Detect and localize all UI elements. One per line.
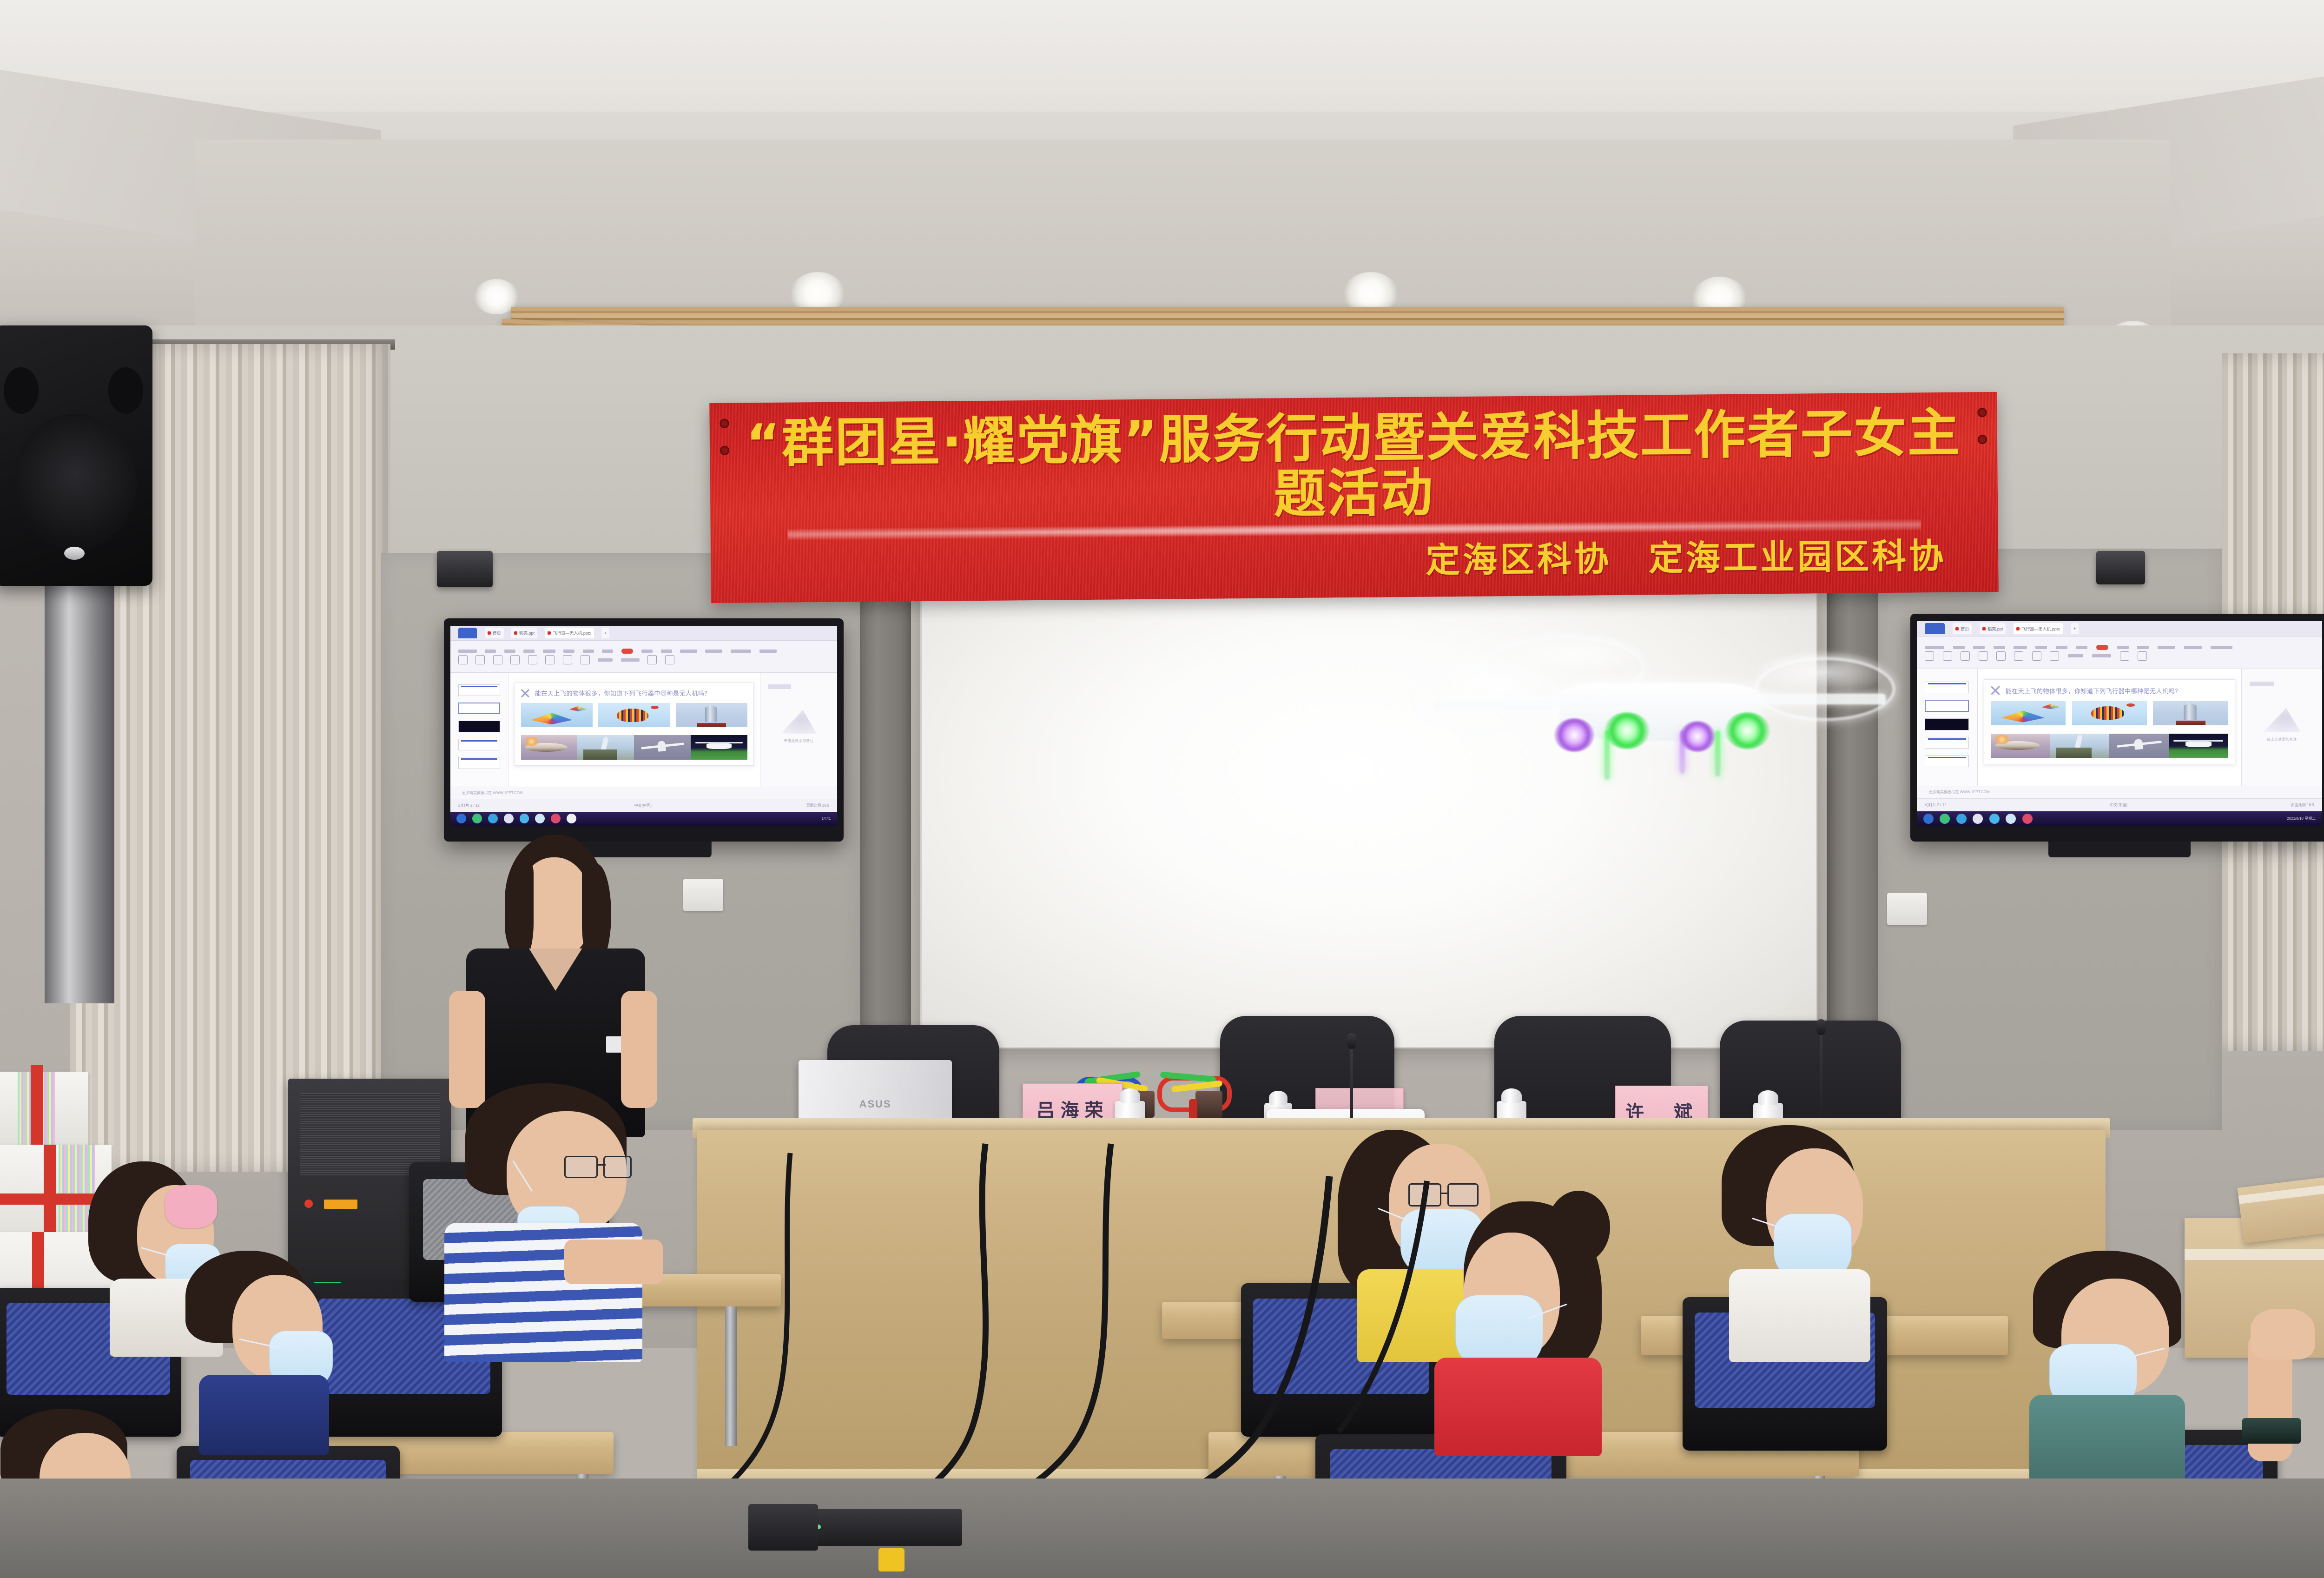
slide-thumbnail[interactable]: [1925, 718, 1969, 730]
ppt-ribbon[interactable]: [1917, 637, 2322, 669]
taskbar-clock: 14:41: [822, 816, 831, 821]
student-red-shirt: [1434, 1358, 1602, 1457]
ppt-slide-thumbnails[interactable]: [1917, 669, 1978, 786]
slide-image-quadcopter-drone: [2169, 734, 2228, 758]
slide-thumbnail[interactable]: [458, 739, 501, 750]
media-icon[interactable]: [535, 814, 545, 823]
desk-leg: [725, 1306, 737, 1446]
flying-quadcopter-drone: [1404, 632, 1906, 786]
ppt-app-logo[interactable]: [458, 628, 477, 638]
power-adapter: [748, 1504, 818, 1551]
start-icon[interactable]: [456, 814, 466, 823]
slide-image-row-top: [1991, 701, 2228, 725]
ppt-body: 能在天上飞的物体很多，你知道下列飞行器中哪种是无人机吗？: [1917, 669, 2322, 786]
gift-box-stack: [0, 1072, 88, 1146]
ppt-ribbon-tool-row[interactable]: [458, 655, 830, 664]
status-language: 中文(中国): [634, 803, 652, 808]
banner-sub-text: 定海区科协 定海工业园区科协: [739, 528, 1970, 589]
pane-header: [2250, 682, 2274, 686]
slide-image-airship-blimp: [521, 735, 578, 759]
wristwatch: [2242, 1418, 2301, 1444]
pane-caption: 单击此处添加备注: [768, 738, 829, 743]
ppt-footer-note: 更多精美模板尽在 WWW.1PPT.COM: [1929, 789, 1990, 795]
drone-icon: [521, 689, 530, 697]
slide-thumbnail-selected[interactable]: [1925, 700, 1969, 712]
explorer-icon[interactable]: [1973, 814, 1983, 824]
ppt-slide: 能在天上飞的物体很多，你知道下列飞行器中哪种是无人机吗？: [514, 683, 754, 766]
browser-icon[interactable]: [472, 814, 482, 823]
hair-bow: [165, 1185, 217, 1228]
drone-led-purple: [1554, 718, 1594, 752]
toy-drone-body: [1195, 1091, 1222, 1119]
pane-caption: 单击此处添加备注: [2250, 737, 2314, 742]
student-white-shirt: [1729, 1269, 1870, 1362]
gift-ribbon: [44, 1145, 56, 1233]
laptop-brand-label: ASUS: [859, 1098, 891, 1110]
windows-taskbar[interactable]: 2021/8/10 星期二: [1917, 811, 2322, 826]
pane-header: [768, 684, 791, 689]
ppt-tab-label: 稻壳.ppt: [1987, 626, 2003, 632]
ppt-tab-active[interactable]: 飞行器—无人机.pptx: [2014, 623, 2063, 634]
banner-main-text: “群团星·耀党旗”服务行动暨关爱科技工作者子女主题活动: [738, 405, 1969, 527]
ppt-notes-bar[interactable]: 更多精美模板尽在 WWW.1PPT.COM: [1917, 786, 2322, 798]
slide-image-missile: [577, 735, 634, 759]
rack-led-amber: [324, 1200, 357, 1209]
ie-icon[interactable]: [488, 814, 498, 823]
ppt-new-tab-label: +: [2073, 626, 2076, 631]
heart-icon[interactable]: [2022, 814, 2033, 824]
ppt-app-logo[interactable]: [1925, 623, 1945, 634]
ppt-tab-label: 首页: [1961, 626, 1969, 632]
status-language: 中文(中国): [2110, 802, 2127, 808]
note-icon[interactable]: [567, 814, 576, 823]
slide-title-row: 能在天上飞的物体很多，你知道下列飞行器中哪种是无人机吗？: [1991, 686, 2228, 695]
slide-thumbnail[interactable]: [458, 757, 501, 769]
ppt-footer-note: 更多精美模板尽在 WWW.1PPT.COM: [462, 790, 523, 796]
ppt-tab-label: 飞行器—无人机.pptx: [553, 630, 591, 636]
presenter-hair-left: [505, 864, 534, 961]
ppt-tabbar[interactable]: 首页 稻壳.ppt 飞行器—无人机.pptx +: [450, 626, 837, 641]
slide-image-row-bottom: [1991, 734, 2228, 758]
student-shirt: [199, 1375, 330, 1455]
ppt-side-pane[interactable]: 单击此处添加备注: [2241, 669, 2322, 786]
hand: [2251, 1309, 2315, 1359]
slide-image-row-top: [521, 703, 747, 727]
ceiling-camera-right: [2096, 551, 2145, 584]
drone-landing-leg: [1715, 730, 1720, 776]
student-raised-hand: [2217, 1297, 2324, 1492]
student-boy-glasses-striped: [418, 1083, 679, 1362]
slide-image-quadcopter-drone: [691, 735, 747, 759]
slide-thumbnail[interactable]: [1925, 755, 1969, 767]
windows-taskbar[interactable]: 14:41: [450, 812, 837, 826]
wall-pilaster-left: [855, 581, 911, 1074]
ppt-ribbon[interactable]: [450, 641, 837, 673]
ppt-ribbon-menu-row[interactable]: [1925, 645, 2314, 650]
ie-icon[interactable]: [1956, 814, 1967, 824]
ppt-tab[interactable]: 首页: [1953, 623, 1972, 634]
eyeglasses-bridge: [598, 1164, 606, 1166]
tv-screen-left: 首页 稻壳.ppt 飞行器—无人机.pptx +: [450, 626, 837, 826]
heart-icon[interactable]: [551, 814, 561, 823]
powerpoint-window-left[interactable]: 首页 稻壳.ppt 飞行器—无人机.pptx +: [450, 626, 837, 826]
slide-thumbnail[interactable]: [458, 721, 501, 732]
yellow-cable-tag: [878, 1548, 905, 1571]
ceiling-soffit: [0, 0, 2324, 112]
slide-image-military-uav: [634, 735, 691, 759]
start-icon[interactable]: [1923, 814, 1934, 824]
drone-icon: [1991, 686, 2000, 695]
speaker-stand: [45, 585, 114, 1003]
ppt-tab[interactable]: 首页: [485, 628, 504, 638]
speaker-cone: [13, 414, 137, 549]
slide-thumbnail[interactable]: [1925, 682, 1969, 694]
ppt-ribbon-menu-row[interactable]: [458, 649, 830, 654]
status-slide-number: 幻灯片 2 / 12: [458, 803, 480, 808]
student-boy-front-left: [172, 1251, 339, 1451]
wall-outlet-right[interactable]: [1887, 893, 1927, 925]
slide-title-row: 能在天上飞的物体很多，你知道下列飞行器中哪种是无人机吗？: [521, 689, 747, 697]
slide-image-kite: [521, 703, 593, 727]
ppt-body: 能在天上飞的物体很多，你知道下列飞行器中哪种是无人机吗？: [450, 673, 837, 787]
ppt-new-tab-button[interactable]: +: [2071, 623, 2079, 634]
student-boy-teal-right: [2017, 1251, 2217, 1483]
status-ratio: 页面比例 16:9: [806, 803, 830, 808]
slide-image-hot-air-balloon: [598, 703, 670, 727]
ppt-slide-stage: 能在天上飞的物体很多，你知道下列飞行器中哪种是无人机吗？: [1978, 669, 2241, 786]
student-girl-red-bun: [1418, 1186, 1627, 1446]
pane-preview: [2263, 708, 2300, 732]
drone-led-green: [1604, 712, 1650, 749]
ppt-slide: 能在天上飞的物体很多，你知道下列飞行器中哪种是无人机吗？: [1984, 679, 2235, 764]
chat-icon[interactable]: [1989, 814, 2000, 824]
pane-preview: [781, 710, 817, 734]
chat-icon[interactable]: [520, 814, 529, 823]
slide-image-military-uav: [2109, 734, 2169, 758]
pa-speaker: [0, 325, 152, 586]
taskbar-date: 2021/8/10 星期二: [2287, 816, 2316, 821]
ppt-tab[interactable]: 稻壳.ppt: [1980, 623, 2006, 634]
slide-image-rocket: [2153, 701, 2228, 725]
microphone-head[interactable]: [1347, 1033, 1356, 1049]
student-arm: [564, 1240, 663, 1284]
tv-screen-right: 首页 稻壳.ppt 飞行器—无人机.pptx +: [1917, 621, 2322, 826]
tv-display-left[interactable]: 首页 稻壳.ppt 飞行器—无人机.pptx +: [444, 618, 844, 842]
browser-icon[interactable]: [1940, 814, 1950, 824]
floor-carpet: [0, 1479, 2324, 1578]
ppt-slide-thumbnails[interactable]: [450, 673, 508, 787]
slide-image-kite: [1991, 701, 2066, 725]
student-teal-shirt: [2029, 1395, 2185, 1488]
slide-thumbnail[interactable]: [458, 684, 501, 696]
ppt-status-bar[interactable]: 幻灯片 2 / 12 中文(中国) 页面比例 16:9: [450, 799, 837, 812]
student-girl-white-right: [1710, 1125, 1896, 1358]
drone-propeller-blur: [1755, 651, 1886, 694]
ppt-tab-active[interactable]: 飞行器—无人机.pptx: [545, 628, 594, 638]
ppt-slide-stage: 能在天上飞的物体很多，你知道下列飞行器中哪种是无人机吗？: [508, 673, 760, 787]
ppt-ribbon-tool-row[interactable]: [1925, 651, 2314, 661]
photo-scene: “群团星·耀党旗”服务行动暨关爱科技工作者子女主题活动 定海区科协 定海工业园区…: [0, 0, 2324, 1578]
tv-display-right[interactable]: 首页 稻壳.ppt 飞行器—无人机.pptx +: [1910, 614, 2324, 842]
slide-image-missile: [2050, 734, 2110, 758]
status-ratio: 页面比例 16:9: [2291, 802, 2314, 808]
ppt-tab-label: 首页: [493, 630, 501, 636]
rack-led-red: [304, 1200, 313, 1208]
event-banner: “群团星·耀党旗”服务行动暨关爱科技工作者子女主题活动 定海区科协 定海工业园区…: [709, 392, 1999, 603]
slide-thumbnail[interactable]: [1925, 737, 1969, 749]
speaker-badge: [64, 547, 85, 560]
tv-stand-right: [2048, 842, 2191, 857]
ceiling: [0, 0, 2324, 353]
microphone-head[interactable]: [1816, 1019, 1826, 1035]
status-slide-number: 幻灯片 2 / 12: [1925, 802, 1946, 808]
ppt-tab-label: 飞行器—无人机.pptx: [2021, 626, 2060, 632]
drone-propeller-blur: [1504, 634, 1644, 674]
slide-image-row-bottom: [521, 735, 747, 759]
slide-title-text: 能在天上飞的物体很多，你知道下列飞行器中哪种是无人机吗？: [2006, 686, 2181, 695]
ppt-tab[interactable]: 稻壳.ppt: [511, 628, 537, 638]
slide-image-hot-air-balloon: [2072, 701, 2147, 725]
hair-bun: [1547, 1191, 1610, 1264]
media-icon[interactable]: [2006, 814, 2016, 824]
powerpoint-window-right[interactable]: 首页 稻壳.ppt 飞行器—无人机.pptx +: [1917, 621, 2322, 826]
drone-led-green: [1725, 712, 1770, 749]
ppt-side-pane[interactable]: 单击此处添加备注: [760, 673, 837, 787]
ppt-tab-label: 稻壳.ppt: [519, 630, 535, 636]
ppt-new-tab-label: +: [604, 631, 607, 636]
slide-image-airship-blimp: [1991, 734, 2050, 758]
explorer-icon[interactable]: [504, 814, 514, 823]
slide-thumbnail-selected[interactable]: [458, 703, 501, 714]
ppt-status-bar[interactable]: 幻灯片 2 / 12 中文(中国) 页面比例 16:9: [1917, 798, 2322, 812]
gift-ribbon: [31, 1065, 43, 1149]
ceiling-camera-left: [437, 551, 493, 587]
ppt-new-tab-button[interactable]: +: [601, 628, 609, 638]
ppt-notes-bar[interactable]: 更多精美模板尽在 WWW.1PPT.COM: [450, 787, 837, 799]
eyeglasses-left-lens: [564, 1156, 598, 1178]
slide-image-rocket: [676, 703, 747, 727]
wall-outlet-left[interactable]: [683, 879, 723, 911]
power-strip[interactable]: [809, 1509, 962, 1546]
slide-title-text: 能在天上飞的物体很多，你知道下列飞行器中哪种是无人机吗？: [535, 689, 711, 697]
ppt-tabbar[interactable]: 首页 稻壳.ppt 飞行器—无人机.pptx +: [1917, 621, 2322, 637]
eyeglasses-right-lens: [603, 1156, 632, 1178]
drone-led-purple: [1680, 721, 1715, 752]
